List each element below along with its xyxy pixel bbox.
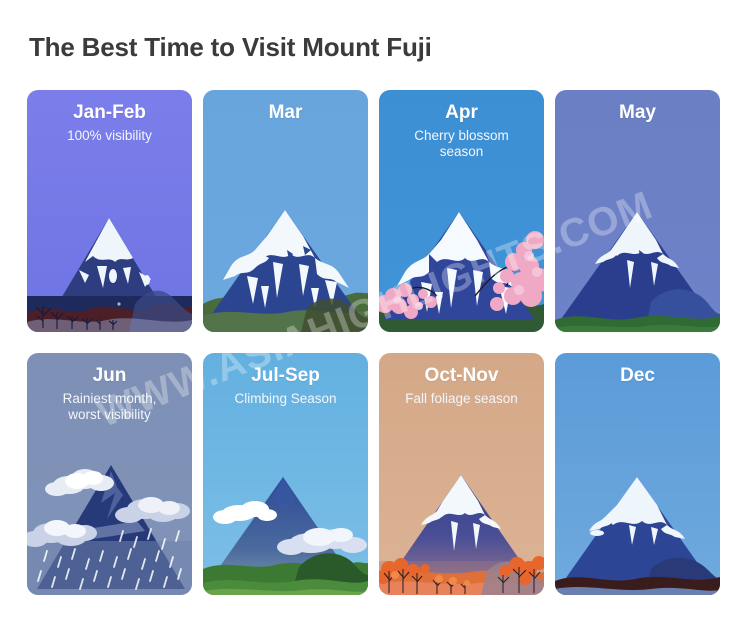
month-card-apr[interactable]: Apr Cherry blossom season xyxy=(379,90,544,332)
month-card-may[interactable]: May xyxy=(555,90,720,332)
card-subtitle: 100% visibility xyxy=(33,128,186,144)
card-title: Dec xyxy=(561,366,714,387)
card-text-block: Jun Rainiest month, worst visibility xyxy=(27,366,192,423)
card-title: Mar xyxy=(209,103,362,124)
card-text-block: Jul-Sep Climbing Season xyxy=(203,366,368,407)
card-title: Jun xyxy=(33,366,186,387)
card-title: Jan-Feb xyxy=(33,103,186,124)
card-text-block: Dec xyxy=(555,366,720,391)
card-subtitle: Cherry blossom season xyxy=(385,128,538,160)
card-text-block: Apr Cherry blossom season xyxy=(379,103,544,160)
card-subtitle: Fall foliage season xyxy=(385,391,538,407)
infographic-page: The Best Time to Visit Mount Fuji xyxy=(0,0,750,620)
month-card-mar[interactable]: Mar xyxy=(203,90,368,332)
month-card-dec[interactable]: Dec xyxy=(555,353,720,595)
card-title: May xyxy=(561,103,714,124)
page-title: The Best Time to Visit Mount Fuji xyxy=(29,32,432,63)
card-title: Oct-Nov xyxy=(385,366,538,387)
month-card-oct-nov[interactable]: Oct-Nov Fall foliage season xyxy=(379,353,544,595)
month-card-jun[interactable]: Jun Rainiest month, worst visibility xyxy=(27,353,192,595)
card-title: Apr xyxy=(385,103,538,124)
card-title: Jul-Sep xyxy=(209,366,362,387)
month-card-grid: Jan-Feb 100% visibility xyxy=(27,90,719,595)
month-card-jul-sep[interactable]: Jul-Sep Climbing Season xyxy=(203,353,368,595)
card-text-block: May xyxy=(555,103,720,128)
card-subtitle: Climbing Season xyxy=(209,391,362,407)
month-card-jan-feb[interactable]: Jan-Feb 100% visibility xyxy=(27,90,192,332)
card-text-block: Jan-Feb 100% visibility xyxy=(27,103,192,144)
card-text-block: Mar xyxy=(203,103,368,128)
card-subtitle: Rainiest month, worst visibility xyxy=(33,391,186,423)
card-text-block: Oct-Nov Fall foliage season xyxy=(379,366,544,407)
